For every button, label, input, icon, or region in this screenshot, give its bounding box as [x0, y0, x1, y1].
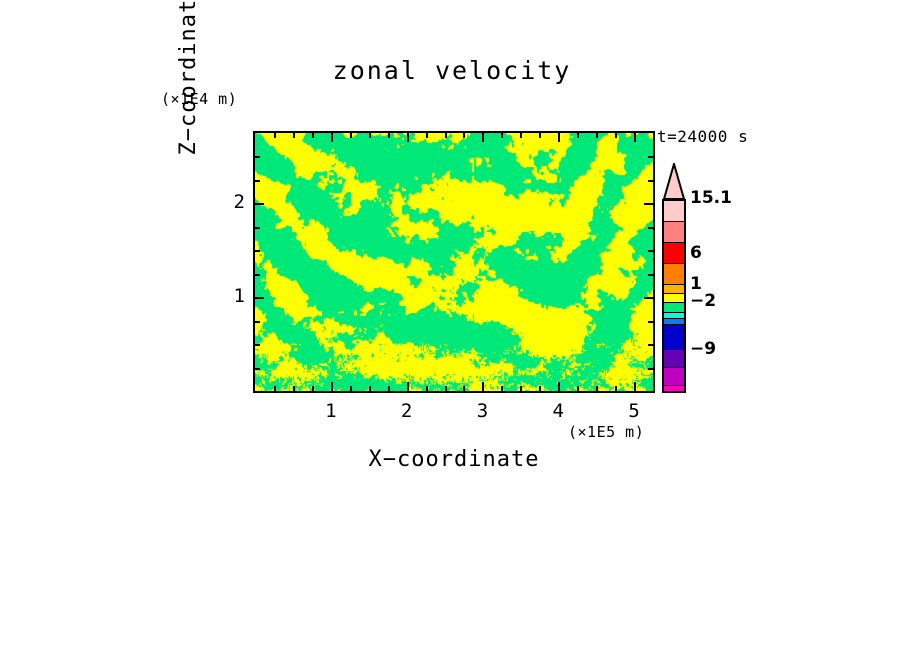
x-major-tick-top: [482, 133, 484, 142]
colorbar-label: −9: [690, 339, 716, 359]
y-minor-tick-right: [648, 227, 653, 229]
colorbar-extend-arrow-icon: [662, 163, 686, 200]
x-minor-tick: [615, 386, 617, 391]
x-major-tick-top: [331, 133, 333, 142]
x-minor-tick-top: [501, 133, 503, 138]
x-minor-tick-top: [293, 133, 295, 138]
x-minor-tick-top: [388, 133, 390, 138]
x-major-tick-top: [634, 133, 636, 142]
y-axis-title: Z−coordinate: [176, 0, 201, 170]
figure-canvas: zonal velocity (×1E4 m) 12345 12 X−coord…: [0, 0, 904, 654]
x-axis-title: X−coordinate: [253, 447, 655, 472]
x-minor-tick-top: [520, 133, 522, 138]
y-minor-tick-right: [648, 156, 653, 158]
y-minor-tick: [255, 321, 260, 323]
y-major-tick-right: [644, 297, 653, 299]
x-major-tick: [331, 382, 333, 391]
heatmap-field: [255, 133, 653, 391]
x-minor-tick: [501, 386, 503, 391]
x-minor-tick-top: [445, 133, 447, 138]
x-minor-tick: [596, 386, 598, 391]
x-minor-tick-top: [312, 133, 314, 138]
x-minor-tick: [577, 386, 579, 391]
page-title: zonal velocity: [0, 56, 904, 85]
y-minor-tick-right: [648, 180, 653, 182]
colorbar: [662, 163, 686, 393]
x-minor-tick-top: [596, 133, 598, 138]
x-major-tick-top: [407, 133, 409, 142]
y-minor-tick-right: [648, 344, 653, 346]
x-tick-label: 4: [543, 400, 573, 422]
colorbar-segment: [664, 243, 684, 264]
y-minor-tick: [255, 368, 260, 370]
x-minor-tick: [369, 386, 371, 391]
x-minor-tick-top: [426, 133, 428, 138]
colorbar-label: −2: [690, 291, 716, 311]
x-major-tick-top: [558, 133, 560, 142]
x-tick-label: 1: [316, 400, 346, 422]
y-tick-label: 1: [215, 285, 245, 307]
x-minor-tick: [539, 386, 541, 391]
y-minor-tick-right: [648, 368, 653, 370]
x-minor-tick: [274, 386, 276, 391]
x-minor-tick: [445, 386, 447, 391]
x-major-tick: [558, 382, 560, 391]
x-minor-tick: [312, 386, 314, 391]
x-minor-tick: [426, 386, 428, 391]
x-minor-tick-top: [463, 133, 465, 138]
colorbar-label: 15.1: [690, 188, 732, 208]
colorbar-body: [662, 199, 686, 393]
y-minor-tick: [255, 344, 260, 346]
time-annotation: t=24000 s: [657, 127, 748, 146]
x-tick-label: 2: [392, 400, 422, 422]
x-minor-tick: [463, 386, 465, 391]
y-minor-tick-right: [648, 274, 653, 276]
colorbar-segment: [664, 386, 684, 393]
x-tick-label: 5: [619, 400, 649, 422]
x-axis-unit-label: (×1E5 m): [568, 423, 644, 441]
colorbar-segment: [664, 222, 684, 243]
x-major-tick: [407, 382, 409, 391]
x-tick-label: 3: [467, 400, 497, 422]
x-minor-tick: [520, 386, 522, 391]
x-minor-tick: [388, 386, 390, 391]
y-minor-tick: [255, 274, 260, 276]
y-major-tick: [255, 203, 264, 205]
x-minor-tick-top: [615, 133, 617, 138]
y-major-tick: [255, 297, 264, 299]
y-minor-tick-right: [648, 321, 653, 323]
y-minor-tick: [255, 227, 260, 229]
x-major-tick: [634, 382, 636, 391]
x-minor-tick-top: [274, 133, 276, 138]
colorbar-segment: [664, 350, 684, 368]
y-major-tick-right: [644, 203, 653, 205]
y-minor-tick: [255, 156, 260, 158]
x-minor-tick-top: [539, 133, 541, 138]
x-minor-tick: [350, 386, 352, 391]
colorbar-segment: [664, 264, 684, 285]
y-minor-tick-right: [648, 250, 653, 252]
y-tick-label: 2: [215, 191, 245, 213]
y-minor-tick: [255, 250, 260, 252]
y-minor-tick: [255, 180, 260, 182]
x-major-tick: [482, 382, 484, 391]
x-minor-tick-top: [577, 133, 579, 138]
x-minor-tick-top: [369, 133, 371, 138]
colorbar-segment: [664, 368, 684, 386]
plot-area: [253, 131, 655, 393]
x-minor-tick-top: [350, 133, 352, 138]
x-minor-tick: [293, 386, 295, 391]
colorbar-segment: [664, 201, 684, 222]
colorbar-segment: [664, 325, 684, 350]
colorbar-label: 6: [690, 243, 702, 263]
